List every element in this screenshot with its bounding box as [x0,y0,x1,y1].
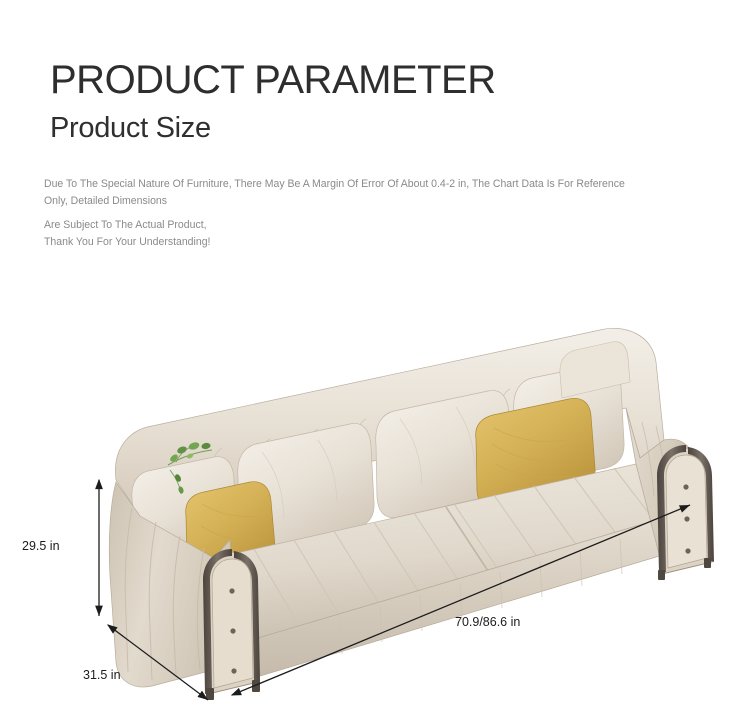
product-image [0,290,750,710]
dimension-label-height: 29.5 in [22,539,60,553]
page-subtitle: Product Size [50,112,211,145]
disclaimer-line-2: Are Subject To The Actual Product, [44,217,639,234]
arm-stud [231,668,236,673]
arm-stud [685,548,690,553]
product-parameter-page: PRODUCT PARAMETER Product Size Due To Th… [0,0,750,710]
arm-stud [684,516,689,521]
dimension-label-depth: 31.5 in [83,668,121,682]
arm-stud [230,628,235,633]
disclaimer-line-3: Thank You For Your Understanding! [44,234,639,251]
disclaimer-block: Due To The Special Nature Of Furniture, … [44,176,639,251]
arm-stud [229,588,234,593]
sofa-illustration [0,290,750,710]
page-title: PRODUCT PARAMETER [50,58,496,103]
dimension-label-width: 70.9/86.6 in [455,615,520,629]
arm-stud [683,484,688,489]
disclaimer-line-1: Due To The Special Nature Of Furniture, … [44,176,639,210]
